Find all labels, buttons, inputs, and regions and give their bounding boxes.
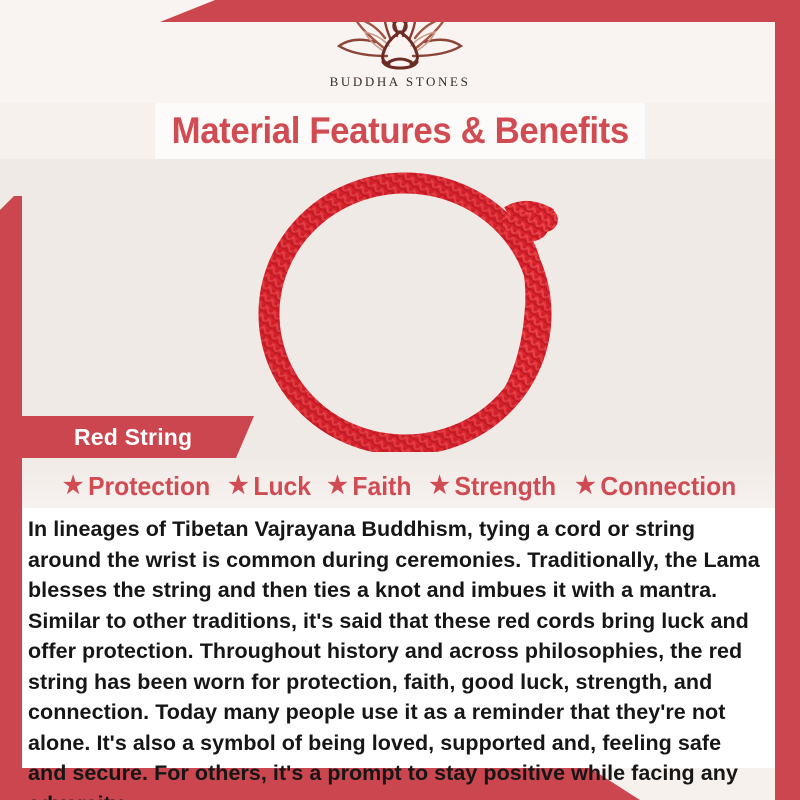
benefit-label: Protection — [88, 471, 210, 502]
right-red-accent — [775, 0, 800, 800]
brand-logo: BUDDHA STONES — [0, 10, 800, 90]
benefit-label: Luck — [254, 471, 312, 502]
benefit-item: ★ Connection — [576, 471, 737, 502]
red-string-bracelet-image — [255, 164, 585, 454]
brand-name: BUDDHA STONES — [330, 74, 471, 90]
title-banner: Material Features & Benefits — [155, 103, 645, 159]
benefit-item: ★ Protection — [63, 471, 210, 502]
benefit-item: ★ Luck — [228, 471, 311, 502]
star-icon: ★ — [228, 474, 248, 498]
section-ribbon: Red String — [22, 416, 254, 458]
benefit-item: ★ Faith — [328, 471, 412, 502]
benefit-label: Strength — [455, 471, 557, 502]
benefit-item: ★ Strength — [429, 471, 556, 502]
benefit-label: Connection — [601, 471, 737, 502]
star-icon: ★ — [328, 474, 348, 498]
star-icon: ★ — [63, 474, 83, 498]
star-icon: ★ — [576, 474, 596, 498]
infographic-poster: BUDDHA STONES Material Features & Benefi… — [0, 0, 800, 800]
benefit-label: Faith — [353, 471, 412, 502]
star-icon: ★ — [429, 474, 449, 498]
description-card: In lineages of Tibetan Vajrayana Buddhis… — [22, 508, 775, 768]
benefits-row: ★ Protection ★ Luck ★ Faith ★ Strength ★… — [22, 466, 778, 506]
section-ribbon-label: Red String — [74, 424, 192, 451]
description-text: In lineages of Tibetan Vajrayana Buddhis… — [28, 514, 765, 800]
left-red-accent-upper — [0, 196, 22, 446]
left-red-accent-lower — [0, 446, 22, 776]
page-title: Material Features & Benefits — [171, 110, 628, 152]
